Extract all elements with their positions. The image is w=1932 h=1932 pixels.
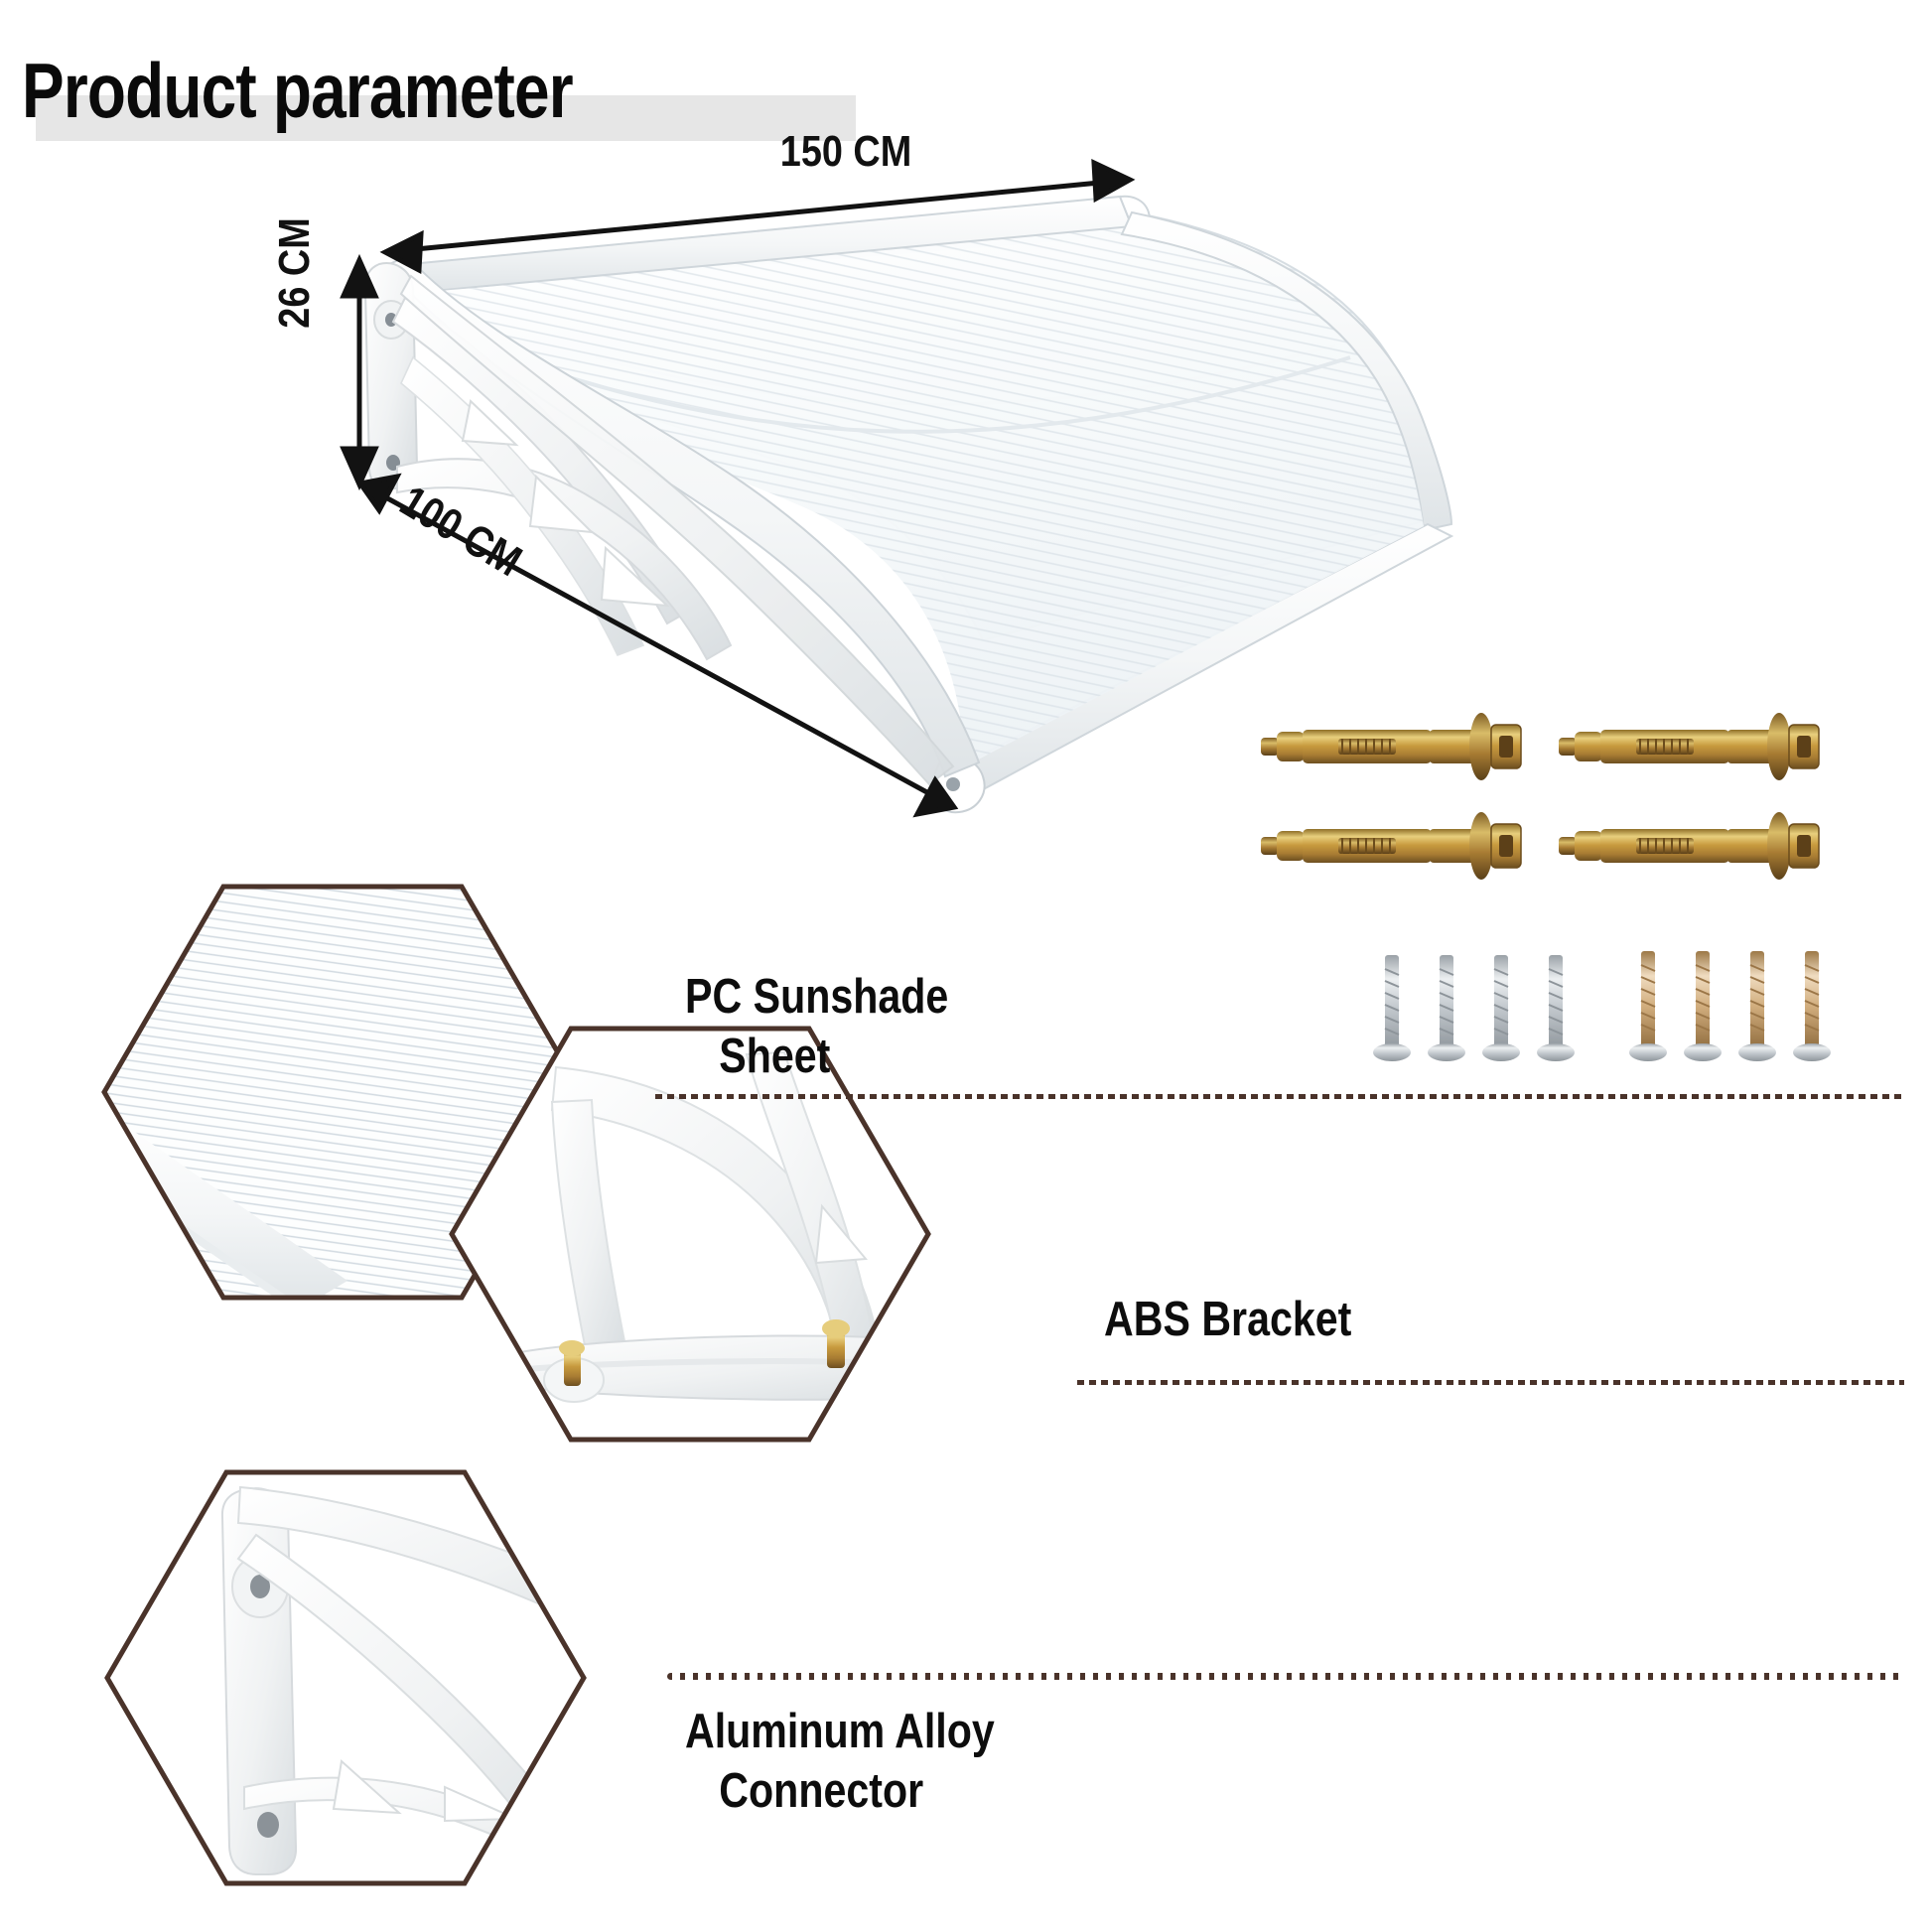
brass-pin <box>559 1340 585 1386</box>
rear-top-rail <box>389 197 1132 294</box>
canopy-main-panel <box>387 278 1442 784</box>
page-header: Product parameter <box>0 28 894 147</box>
screw <box>1738 951 1776 1061</box>
right-end-cap <box>1120 197 1150 230</box>
hexagon-aluminum-connector <box>99 1464 655 1891</box>
front-cap-screw <box>946 777 960 791</box>
dim-width-arrow-right <box>1094 163 1130 199</box>
screw <box>1482 955 1520 1061</box>
expansion-bolt <box>1261 713 1521 780</box>
screw <box>1793 951 1831 1061</box>
screw <box>1684 951 1722 1061</box>
screws-group <box>1373 951 1831 1061</box>
callout-rule-pc-sunshade-sheet <box>655 1094 1904 1099</box>
canopy-front-face <box>401 210 1442 784</box>
dimension-arrows <box>344 163 1130 814</box>
dimension-label-height: 26 CM <box>270 217 320 328</box>
right-edge-frame <box>1122 212 1451 530</box>
screw <box>1428 955 1465 1061</box>
callout-label-abs-bracket: ABS Bracket <box>1104 1291 1351 1350</box>
dim-depth-arrow-start <box>360 477 397 510</box>
callout-rule-abs-bracket <box>1077 1380 1904 1385</box>
expansion-bolt <box>1261 812 1521 880</box>
screw <box>1537 955 1575 1061</box>
expansion-bolts-group <box>1261 713 1819 880</box>
dim-width-line <box>395 181 1120 251</box>
screw <box>1373 955 1411 1061</box>
callout-label-aluminum-alloy-connector: Aluminum Alloy Connector <box>685 1703 995 1822</box>
dimension-label-depth: 100 CM <box>391 477 529 587</box>
dim-height-arrow-top <box>344 260 375 296</box>
brass-pin <box>822 1319 850 1368</box>
dimension-label-width: 150 CM <box>780 127 912 177</box>
screw <box>1629 951 1667 1061</box>
canopy-body-surface <box>401 236 1424 766</box>
awning-illustration <box>344 163 1451 814</box>
front-left-end-cap <box>929 757 985 812</box>
callout-label-pc-sunshade-sheet: PC Sunshade Sheet <box>685 968 948 1087</box>
hexagon-pc-sunshade-sheet <box>60 874 596 1311</box>
callout-rule-aluminum-alloy-connector <box>667 1673 1904 1680</box>
dim-height-arrow-bottom <box>344 449 375 484</box>
canopy-seam <box>596 345 1335 404</box>
page-title: Product parameter <box>22 52 573 129</box>
expansion-bolt <box>1559 812 1819 880</box>
expansion-bolt <box>1559 713 1819 780</box>
dim-width-arrow-left <box>385 234 421 270</box>
front-lower-rail <box>953 524 1451 792</box>
dim-depth-arrow-end <box>917 780 954 814</box>
canopy-sheet <box>401 210 1442 640</box>
